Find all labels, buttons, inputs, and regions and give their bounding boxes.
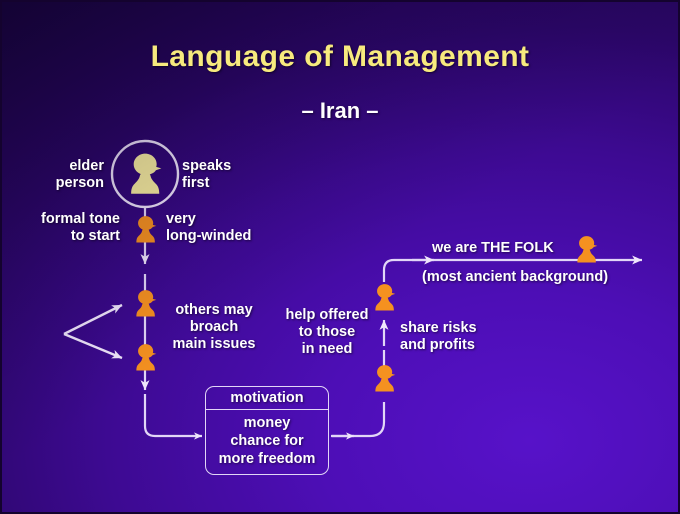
label-we-are-the-folk: we are THE FOLK bbox=[432, 240, 582, 257]
label-long-winded: very long-winded bbox=[166, 211, 278, 245]
slide-canvas: Language of Management – Iran – bbox=[0, 0, 680, 514]
label-share-risks: share risks and profits bbox=[400, 320, 510, 354]
label-formal-tone: formal tone to start bbox=[18, 211, 120, 245]
page-subtitle: – Iran – bbox=[2, 98, 678, 124]
broach-person-upper-icon bbox=[136, 290, 156, 316]
label-elder-person: elder person bbox=[24, 158, 104, 192]
motivation-box-header: motivation bbox=[206, 387, 328, 410]
share-person-lower-icon bbox=[375, 365, 395, 391]
elder-person-icon bbox=[131, 154, 161, 194]
page-title: Language of Management bbox=[2, 40, 678, 74]
share-person-upper-icon bbox=[375, 284, 395, 310]
label-most-ancient-background: (most ancient background) bbox=[422, 269, 642, 286]
label-help-offered: help offered to those in need bbox=[277, 307, 377, 358]
motivation-box-body: money chance for more freedom bbox=[206, 410, 328, 474]
label-speaks-first: speaks first bbox=[182, 158, 278, 192]
broach-person-lower-icon bbox=[136, 344, 156, 370]
label-others-broach: others may broach main issues bbox=[162, 302, 266, 353]
formal-tone-person-icon bbox=[136, 216, 156, 242]
motivation-box: motivation money chance for more freedom bbox=[205, 386, 329, 475]
